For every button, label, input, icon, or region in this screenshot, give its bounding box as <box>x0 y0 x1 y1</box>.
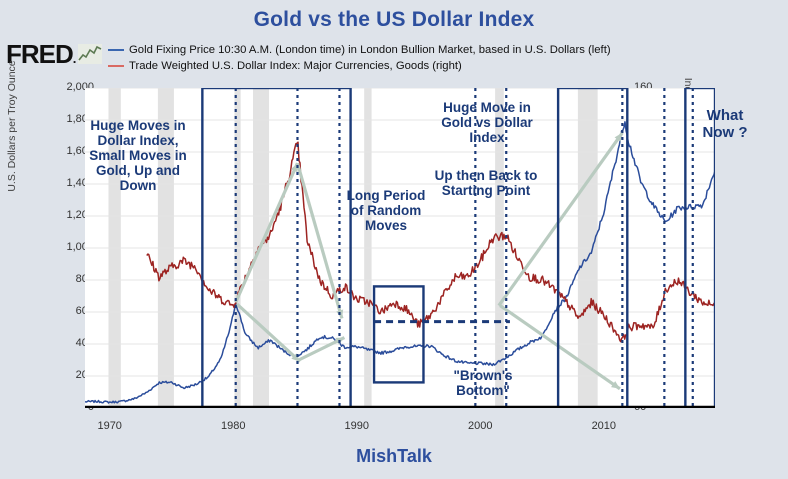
x-tick: 2010 <box>574 420 634 432</box>
page-title: Gold vs the US Dollar Index <box>0 8 788 32</box>
watermark: MishTalk <box>0 446 788 467</box>
legend-swatch-dollar <box>108 65 124 67</box>
legend-item-gold: Gold Fixing Price 10:30 A.M. (London tim… <box>108 42 611 58</box>
annotation-browns-bottom: "Brown's Bottom" <box>428 368 538 398</box>
annotation-what-now: What Now ? <box>692 108 758 142</box>
legend-label-dollar: Trade Weighted U.S. Dollar Index: Major … <box>129 60 462 72</box>
fred-chart: Gold vs the US Dollar Index FRED. Gold F… <box>0 0 788 479</box>
legend: Gold Fixing Price 10:30 A.M. (London tim… <box>108 42 611 74</box>
fred-chart-glyph <box>78 44 102 64</box>
annotation-long-period-random: Long Period of Random Moves <box>344 188 428 233</box>
annotation-huge-moves-dollar: Huge Moves in Dollar Index, Small Moves … <box>84 118 192 194</box>
annotation-up-then-back: Up then Back to Starting Point <box>434 168 538 198</box>
x-tick: 2000 <box>450 420 510 432</box>
legend-swatch-gold <box>108 49 124 51</box>
legend-item-dollar: Trade Weighted U.S. Dollar Index: Major … <box>108 58 611 74</box>
legend-label-gold: Gold Fixing Price 10:30 A.M. (London tim… <box>129 44 611 56</box>
x-tick: 1970 <box>80 420 140 432</box>
fred-logo-dot: . <box>73 51 76 66</box>
y-axis-left-title: U.S. Dollars per Troy Ounce <box>6 46 18 206</box>
x-tick: 1980 <box>203 420 263 432</box>
x-tick: 1990 <box>327 420 387 432</box>
annotation-huge-move-gold: Huge Move in Gold vs Dollar Index <box>426 100 548 145</box>
